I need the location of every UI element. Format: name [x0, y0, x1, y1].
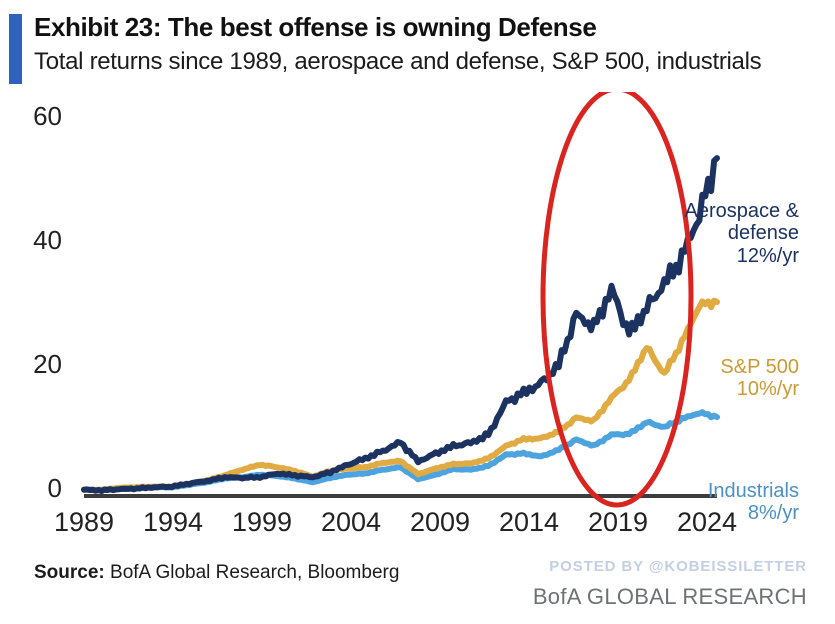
chart-footer: Source: BofA Global Research, Bloomberg … — [0, 542, 835, 624]
brand-watermark: BofA GLOBAL RESEARCH — [533, 584, 807, 610]
page-title: Exhibit 23: The best offense is owning D… — [34, 12, 596, 43]
accent-bar — [9, 14, 22, 84]
source-label: Source: — [34, 562, 105, 583]
posted-by-watermark: POSTED BY @KOBEISSILETTER — [549, 558, 807, 575]
chart-header: Exhibit 23: The best offense is owning D… — [0, 0, 835, 92]
annotation-sp500-name: S&P 500 — [720, 356, 799, 378]
source-line: Source: BofA Global Research, Bloomberg — [34, 562, 399, 584]
chart-canvas — [0, 92, 835, 542]
annotation-aerospace-defense: Aerospace & defense 12%/yr — [619, 200, 799, 267]
annotation-sp500: S&P 500 10%/yr — [619, 356, 799, 401]
plot-area: 60 40 20 0 1989 1994 1999 2004 2009 2014… — [0, 92, 835, 542]
annotation-aerospace-name2: defense — [619, 222, 799, 244]
series-line-industrials — [84, 412, 717, 490]
annotation-industrials-rate: 8%/yr — [619, 502, 799, 524]
annotation-sp500-rate: 10%/yr — [619, 378, 799, 400]
page-subtitle: Total returns since 1989, aerospace and … — [34, 48, 761, 76]
annotation-aerospace-name: Aerospace & — [684, 200, 799, 222]
source-text: BofA Global Research, Bloomberg — [105, 562, 400, 583]
chart-page: Exhibit 23: The best offense is owning D… — [0, 0, 835, 624]
annotation-industrials: Industrials 8%/yr — [619, 480, 799, 525]
annotation-industrials-name: Industrials — [708, 480, 799, 502]
annotation-aerospace-rate: 12%/yr — [619, 245, 799, 267]
